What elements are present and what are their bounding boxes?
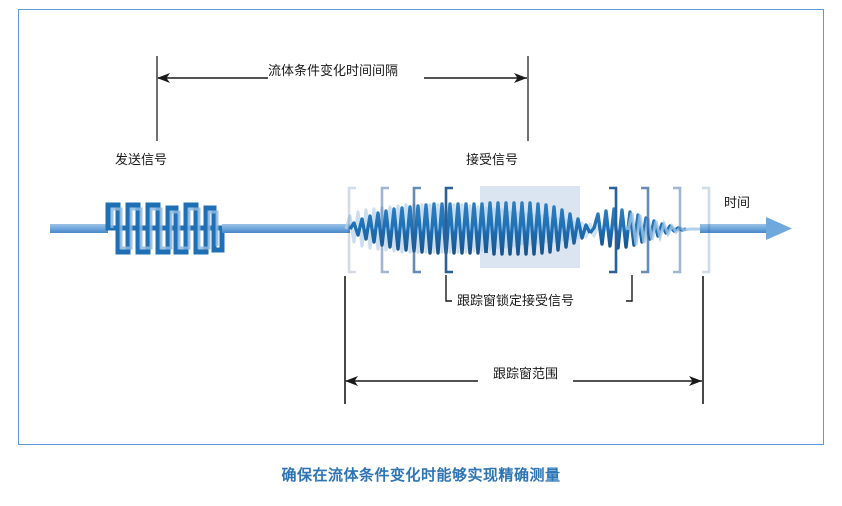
transmit-signal-wave [50, 205, 350, 252]
time-axis-label: 时间 [724, 196, 750, 209]
tracking-window-range-label: 跟踪窗范围 [487, 367, 564, 380]
figure-root: 流体条件变化时间间隔 发送信号 接受信号 时间 跟踪窗锁定接受信号 跟踪窗范围 … [0, 0, 842, 506]
time-axis-arrow [700, 217, 792, 240]
interval-label: 流体条件变化时间间隔 [264, 64, 402, 77]
send-signal-label: 发送信号 [115, 153, 167, 166]
figure-caption: 确保在流体条件变化时能够实现精确测量 [0, 464, 842, 485]
diagram-svg [0, 0, 842, 506]
receive-signal-label: 接受信号 [466, 153, 518, 166]
tracking-window-lock-label: 跟踪窗锁定接受信号 [452, 294, 579, 307]
